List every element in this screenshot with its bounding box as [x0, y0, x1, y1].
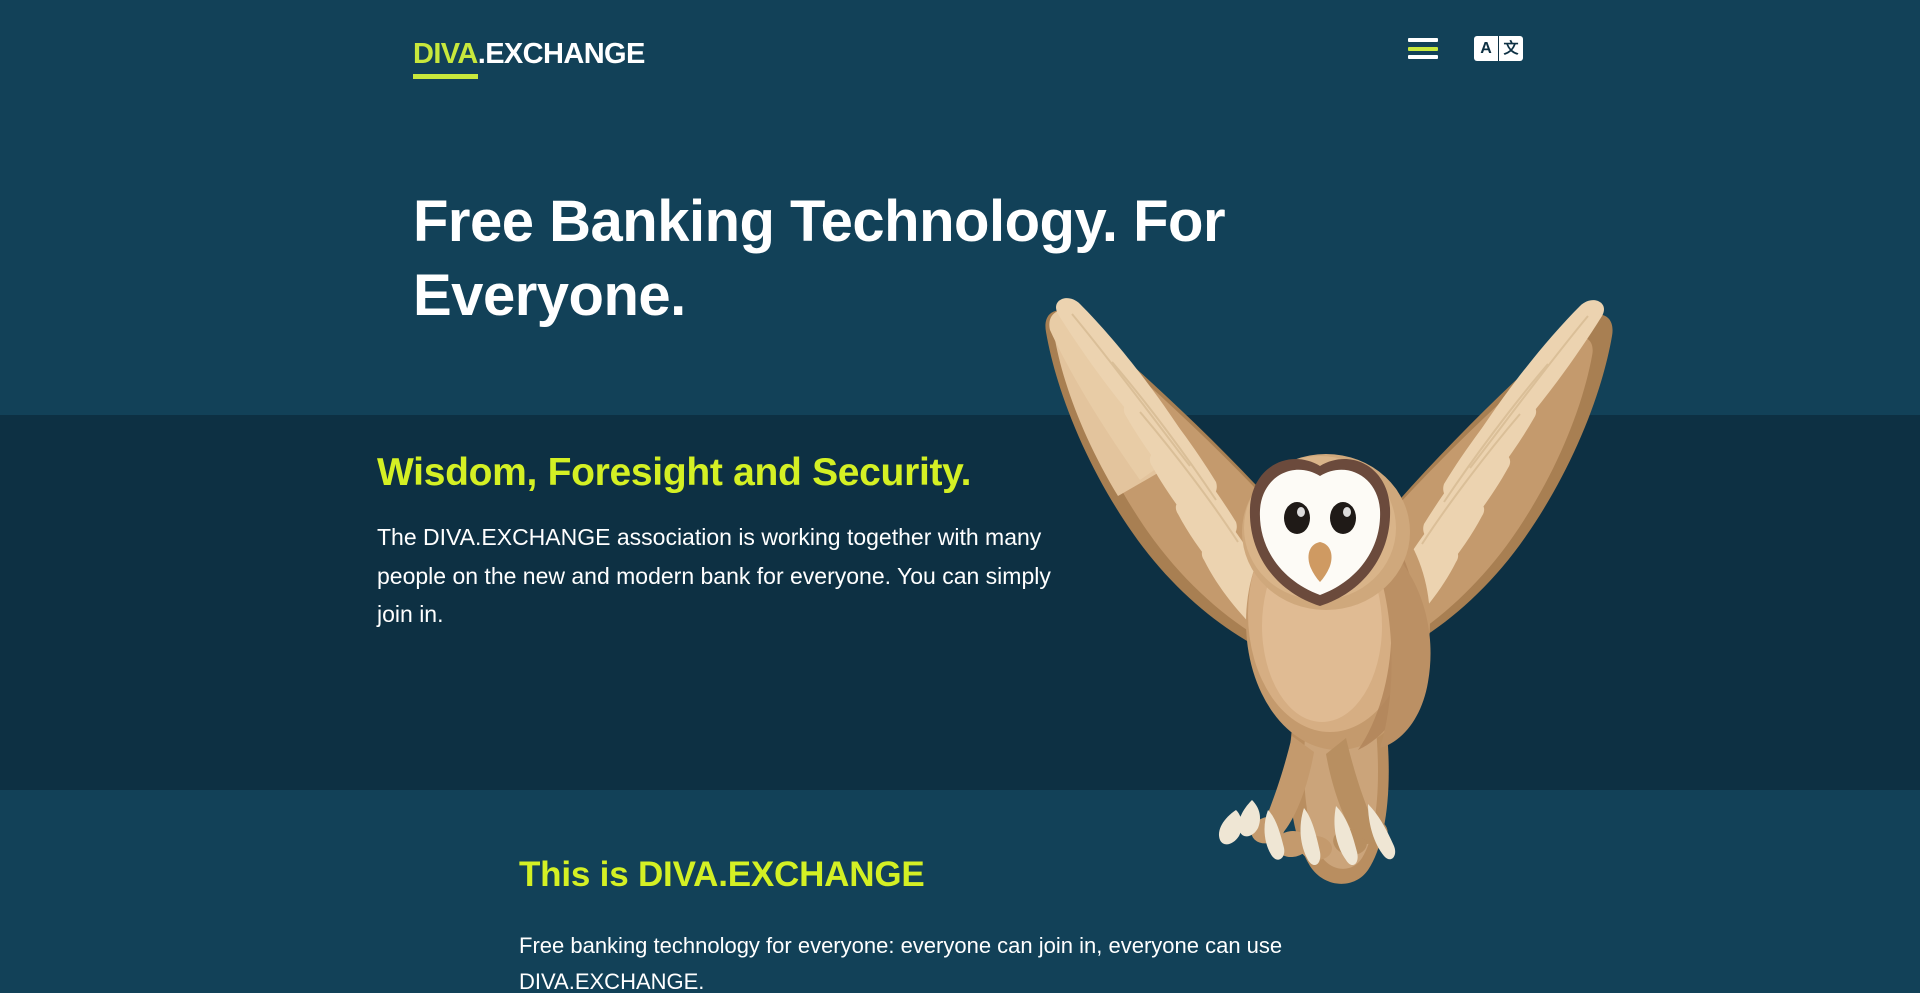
site-header: DIVA.EXCHANGE A 文 [0, 0, 1920, 110]
hero-title: Free Banking Technology. For Everyone. [413, 185, 1313, 332]
page-root: DIVA.EXCHANGE A 文 Free Banking Technolog… [0, 0, 1920, 993]
section-about-title: This is DIVA.EXCHANGE [519, 855, 1389, 895]
hamburger-bar-bottom [1408, 55, 1438, 59]
hamburger-menu-icon[interactable] [1408, 38, 1438, 59]
hamburger-bar-middle [1408, 47, 1438, 51]
logo-secondary-text: .EXCHANGE [478, 38, 645, 70]
section-wisdom: Wisdom, Foresight and Security. The DIVA… [377, 448, 1077, 634]
site-logo[interactable]: DIVA.EXCHANGE [413, 40, 645, 69]
logo-primary-text: DIVA [413, 38, 478, 79]
translate-language-icon[interactable]: A 文 [1474, 36, 1523, 61]
hamburger-bar-top [1408, 38, 1438, 42]
section-wisdom-title: Wisdom, Foresight and Security. [377, 448, 1077, 498]
section-wisdom-body: The DIVA.EXCHANGE association is working… [377, 518, 1077, 634]
section-about: This is DIVA.EXCHANGE Free banking techn… [519, 855, 1389, 993]
section-about-body: Free banking technology for everyone: ev… [519, 928, 1389, 993]
language-latin-glyph: A [1474, 36, 1498, 61]
language-cjk-glyph: 文 [1499, 36, 1523, 61]
header-actions: A 文 [1408, 36, 1523, 61]
